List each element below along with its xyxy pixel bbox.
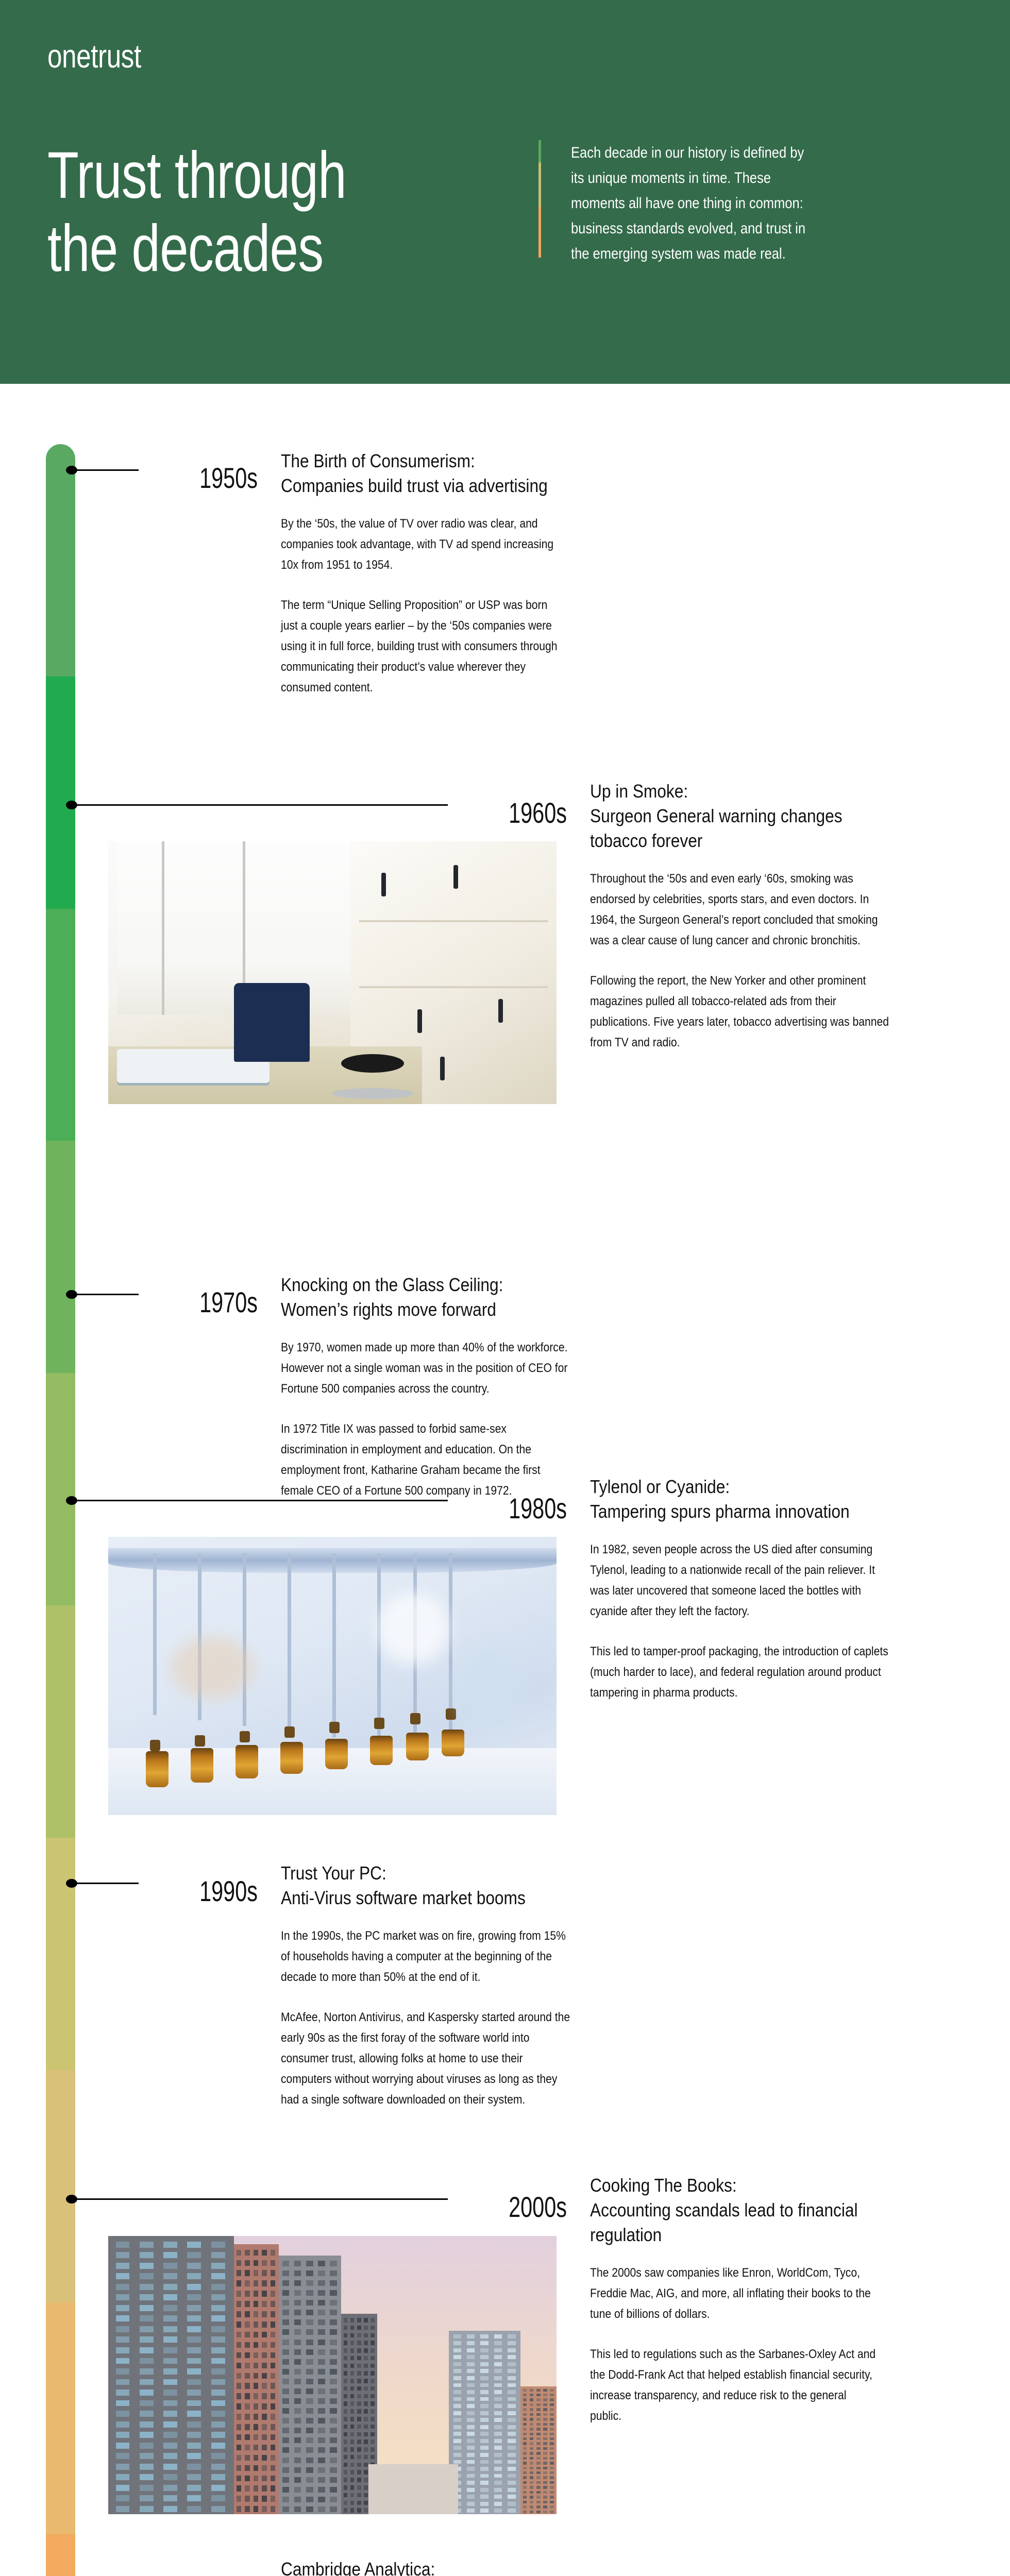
decade-label: 2010s	[143, 2574, 258, 2576]
entry-paragraph: The 2000s saw companies like Enron, Worl…	[590, 2263, 880, 2325]
entry-paragraph: This led to regulations such as the Sarb…	[590, 2344, 880, 2427]
entry-paragraph: In the 1990s, the PC market was on fire,…	[281, 1926, 571, 1988]
timeline-connector-line	[74, 1294, 139, 1295]
entry-heading-line2: Companies build trust via advertising	[281, 475, 548, 496]
entry-heading: The Birth of Consumerism:Companies build…	[281, 449, 562, 498]
hero-divider-rule	[538, 140, 541, 258]
entry-heading: Tylenol or Cyanide:Tampering spurs pharm…	[590, 1475, 889, 1524]
decade-label: 1950s	[143, 464, 258, 493]
entry-heading-line1: Knocking on the Glass Ceiling:	[281, 1274, 503, 1295]
entry-text-column: Knocking on the Glass Ceiling:Women’s ri…	[281, 1273, 611, 1501]
entry-heading-line1: The Birth of Consumerism:	[281, 450, 475, 471]
timeline-connector-line	[74, 469, 139, 471]
entry-heading-line1: Tylenol or Cyanide:	[590, 1476, 730, 1497]
timeline-segment	[46, 1838, 75, 2070]
timeline-segment	[46, 909, 75, 1141]
hero-banner: onetrust Trust through the decades Each …	[0, 0, 1010, 384]
entry-heading-line2: Accounting scandals lead to financial re…	[590, 2199, 858, 2245]
decade-label: 1990s	[143, 1877, 258, 1906]
timeline-segment	[46, 1605, 75, 1838]
timeline-segment	[46, 2302, 75, 2535]
entry-paragraph: This led to tamper-proof packaging, the …	[590, 1641, 889, 1703]
entry-text-column: Up in Smoke:Surgeon General warning chan…	[590, 779, 930, 1053]
timeline-connector-line	[74, 804, 448, 806]
entry-paragraph: Following the report, the New Yorker and…	[590, 971, 889, 1053]
entry-heading-line2: Surgeon General warning changes tobacco …	[590, 805, 843, 851]
timeline-segment	[46, 1373, 75, 1605]
timeline-gradient-bar	[46, 444, 75, 2576]
entry-heading-line2: Tampering spurs pharma innovation	[590, 1501, 850, 1522]
entry-paragraph: The term “Unique Selling Proposition” or…	[281, 595, 562, 698]
entry-paragraph: By the ‘50s, the value of TV over radio …	[281, 514, 562, 575]
pharma-vial-production-line-photo	[108, 1537, 557, 1815]
entry-heading: Cambridge Analytica:Privacy takes the sp…	[281, 2557, 571, 2576]
entry-heading-line1: Cooking The Books:	[590, 2175, 737, 2196]
entry-heading: Trust Your PC:Anti-Virus software market…	[281, 1861, 571, 1910]
entry-paragraph: In 1972 Title IX was passed to forbid sa…	[281, 1419, 571, 1501]
timeline-segment	[46, 2070, 75, 2302]
timeline-connector-line	[74, 2198, 448, 2200]
timeline-segment	[46, 676, 75, 909]
entry-text-column: Cooking The Books:Accounting scandals le…	[590, 2173, 920, 2427]
decade-label: 1980s	[452, 1494, 567, 1523]
page-title: Trust through the decades	[47, 139, 369, 285]
decade-label: 1970s	[143, 1288, 258, 1317]
city-skyscrapers-at-sunset-photo	[108, 2236, 557, 2514]
timeline-segment	[46, 2534, 75, 2576]
entry-heading: Knocking on the Glass Ceiling:Women’s ri…	[281, 1273, 571, 1322]
entry-heading: Cooking The Books:Accounting scandals le…	[590, 2173, 880, 2247]
timeline-segment	[46, 1141, 75, 1373]
entry-paragraph: By 1970, women made up more than 40% of …	[281, 1337, 571, 1399]
timeline-connector-line	[74, 1500, 448, 1501]
entry-heading-line1: Up in Smoke:	[590, 781, 688, 802]
entry-paragraph: Throughout the ‘50s and even early ‘60s,…	[590, 869, 889, 951]
entry-heading-line1: Cambridge Analytica:	[281, 2558, 435, 2576]
timeline-connector-line	[74, 1883, 139, 1884]
clinic-exam-room-photo	[108, 841, 557, 1104]
decade-label: 2000s	[452, 2193, 567, 2222]
entry-heading-line1: Trust Your PC:	[281, 1862, 386, 1884]
entry-heading-line2: Women’s rights move forward	[281, 1299, 496, 1320]
entry-paragraph: In 1982, seven people across the US died…	[590, 1539, 889, 1622]
entry-text-column: Trust Your PC:Anti-Virus software market…	[281, 1861, 611, 2110]
entry-text-column: Tylenol or Cyanide:Tampering spurs pharm…	[590, 1475, 930, 1703]
timeline-segment	[46, 444, 75, 676]
hero-lede-text: Each decade in our history is defined by…	[571, 140, 816, 266]
entry-text-column: Cambridge Analytica:Privacy takes the sp…	[281, 2557, 611, 2576]
brand-logo: onetrust	[47, 37, 141, 75]
entry-heading: Up in Smoke:Surgeon General warning chan…	[590, 779, 889, 853]
entry-text-column: The Birth of Consumerism:Companies build…	[281, 449, 600, 698]
entry-heading-line2: Anti-Virus software market booms	[281, 1887, 526, 1908]
decade-label: 1960s	[452, 799, 567, 827]
entry-paragraph: McAfee, Norton Antivirus, and Kaspersky …	[281, 2007, 571, 2110]
